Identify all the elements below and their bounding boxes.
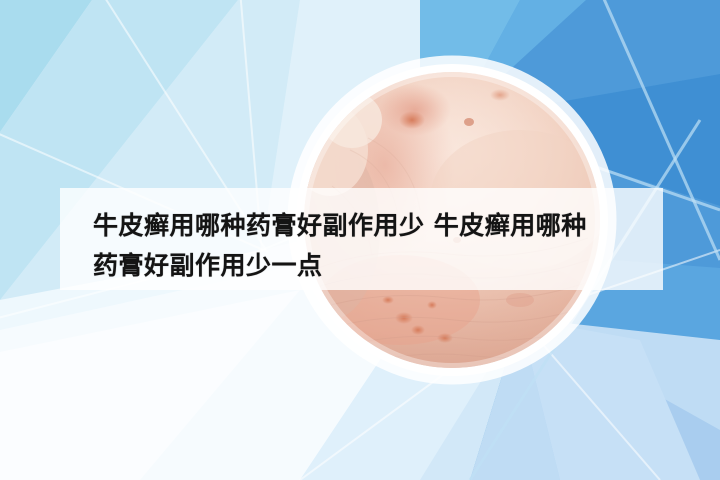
poster-canvas: 牛皮癣用哪种药膏好副作用少 牛皮癣用哪种 药膏好副作用少一点 [0, 0, 720, 480]
headline-block: 牛皮癣用哪种药膏好副作用少 牛皮癣用哪种 药膏好副作用少一点 [93, 206, 653, 286]
headline-line-1: 牛皮癣用哪种药膏好副作用少 牛皮癣用哪种 [93, 206, 653, 246]
headline-line-2: 药膏好副作用少一点 [93, 246, 653, 286]
